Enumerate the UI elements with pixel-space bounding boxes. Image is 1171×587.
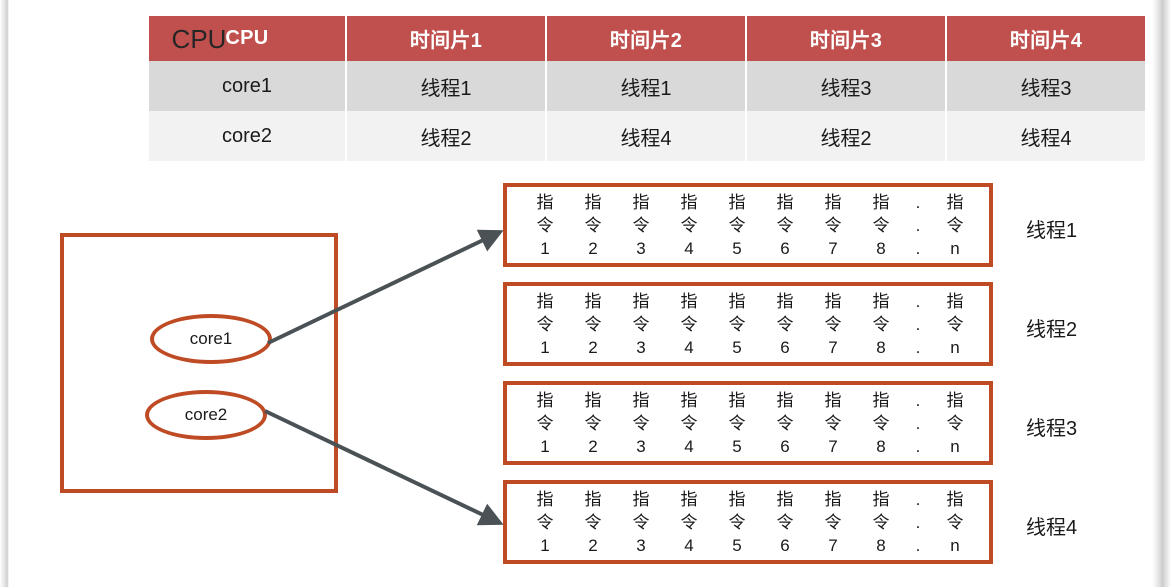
instr-char-bot: 4 [684, 435, 693, 458]
instr-char-top: . [916, 488, 921, 511]
instr-char-mid: 令 [633, 412, 650, 435]
instr-char-bot: 7 [828, 237, 837, 260]
instruction-cell: 指令1 [521, 389, 569, 458]
cell-core-name: core2 [149, 111, 345, 161]
instr-char-top: 指 [729, 290, 746, 313]
instr-char-mid: 令 [633, 511, 650, 534]
instr-char-mid: 令 [825, 511, 842, 534]
instr-char-bot: 4 [684, 237, 693, 260]
instr-char-bot: 5 [732, 435, 741, 458]
instr-char-mid: 令 [585, 313, 602, 336]
instruction-box-thread3: 指令1 指令2 指令3 指令4 指令5 指令6 指令7 指令8 ... 指令n [503, 381, 993, 465]
instr-char-bot: 7 [828, 534, 837, 557]
table-header-timeslot-1: 时间片1 [347, 16, 545, 61]
instr-char-mid: 令 [537, 214, 554, 237]
instruction-box-thread1: 指令1 指令2 指令3 指令4 指令5 指令6 指令7 指令8 ... 指令n [503, 183, 993, 267]
instr-char-bot: 8 [876, 435, 885, 458]
instruction-cell: 指令3 [617, 191, 665, 260]
instr-char-top: 指 [537, 488, 554, 511]
instr-char-bot: . [916, 237, 921, 260]
instr-char-bot: 2 [588, 435, 597, 458]
table-row-core2: core2 线程2 线程4 线程2 线程4 [149, 111, 1145, 161]
instr-char-mid: . [916, 511, 921, 534]
instruction-cell: 指令4 [665, 389, 713, 458]
table-row-core1: core1 线程1 线程1 线程3 线程3 [149, 61, 1145, 111]
instr-char-mid: 令 [537, 511, 554, 534]
instr-char-top: 指 [825, 389, 842, 412]
instr-char-mid: 令 [777, 511, 794, 534]
instr-char-top: 指 [947, 488, 964, 511]
instr-char-top: 指 [537, 191, 554, 214]
instruction-ellipsis: ... [905, 290, 931, 359]
instr-char-bot: n [950, 237, 959, 260]
instr-char-mid: 令 [585, 412, 602, 435]
instr-char-bot: n [950, 336, 959, 359]
instruction-ellipsis: ... [905, 488, 931, 557]
instr-char-mid: 令 [825, 412, 842, 435]
instr-char-bot: 1 [540, 336, 549, 359]
instr-char-top: 指 [825, 290, 842, 313]
instruction-cell: 指令7 [809, 389, 857, 458]
instruction-cell: 指令5 [713, 191, 761, 260]
cell-core2-slot1: 线程2 [347, 111, 545, 161]
instruction-box-thread2: 指令1 指令2 指令3 指令4 指令5 指令6 指令7 指令8 ... 指令n [503, 282, 993, 366]
thread-label-2: 线程2 [1026, 313, 1146, 342]
instr-char-bot: 2 [588, 534, 597, 557]
cell-core2-slot2: 线程4 [547, 111, 745, 161]
instruction-cell: 指令8 [857, 290, 905, 359]
instruction-cell: 指令3 [617, 389, 665, 458]
instruction-cell: 指令3 [617, 488, 665, 557]
instr-char-mid: 令 [825, 313, 842, 336]
instr-char-bot: 2 [588, 237, 597, 260]
instruction-cell: 指令n [931, 488, 979, 557]
cell-core1-slot3: 线程3 [747, 61, 945, 111]
core1-label: core1 [190, 329, 233, 349]
instr-char-mid: 令 [873, 412, 890, 435]
instruction-cell: 指令1 [521, 488, 569, 557]
instr-char-mid: 令 [681, 412, 698, 435]
instr-char-bot: 8 [876, 237, 885, 260]
cell-core2-slot4: 线程4 [947, 111, 1145, 161]
instruction-cell: 指令7 [809, 488, 857, 557]
cell-core1-slot4: 线程3 [947, 61, 1145, 111]
instr-char-bot: 5 [732, 237, 741, 260]
instruction-cell: 指令5 [713, 290, 761, 359]
instr-char-top: . [916, 290, 921, 313]
instr-char-mid: 令 [777, 412, 794, 435]
instr-char-mid: 令 [729, 511, 746, 534]
instr-char-bot: 6 [780, 534, 789, 557]
cell-core-name: core1 [149, 61, 345, 111]
instr-char-top: 指 [633, 389, 650, 412]
page-edge-right [1152, 0, 1171, 587]
instr-char-top: 指 [681, 389, 698, 412]
instr-char-bot: 8 [876, 534, 885, 557]
instr-char-mid: . [916, 313, 921, 336]
instr-char-mid: 令 [825, 214, 842, 237]
page-edge-left [0, 0, 9, 587]
instr-char-top: 指 [633, 191, 650, 214]
instr-char-top: 指 [537, 389, 554, 412]
instr-char-top: 指 [585, 488, 602, 511]
instruction-cell: 指令8 [857, 191, 905, 260]
instr-char-top: 指 [873, 290, 890, 313]
instr-char-bot: 8 [876, 336, 885, 359]
instr-char-mid: 令 [585, 214, 602, 237]
instr-char-mid: 令 [633, 313, 650, 336]
instr-char-mid: . [916, 412, 921, 435]
instruction-cell: 指令n [931, 389, 979, 458]
instr-char-mid: 令 [633, 214, 650, 237]
instr-char-bot: 2 [588, 336, 597, 359]
instr-char-bot: 3 [636, 237, 645, 260]
instr-char-top: 指 [681, 488, 698, 511]
instr-char-bot: . [916, 534, 921, 557]
instr-char-bot: 7 [828, 435, 837, 458]
instr-char-bot: n [950, 435, 959, 458]
instr-char-mid: 令 [777, 214, 794, 237]
instruction-cell: 指令6 [761, 488, 809, 557]
core2-ellipse: core2 [145, 390, 267, 440]
cell-core1-slot2: 线程1 [547, 61, 745, 111]
table-header-timeslot-3: 时间片3 [747, 16, 945, 61]
instruction-ellipsis: ... [905, 191, 931, 260]
instruction-cell: 指令2 [569, 290, 617, 359]
instr-char-mid: 令 [777, 313, 794, 336]
instr-char-top: 指 [947, 191, 964, 214]
instr-char-mid: 令 [729, 313, 746, 336]
instr-char-mid: 令 [947, 313, 964, 336]
instr-char-bot: 6 [780, 336, 789, 359]
instr-char-mid: 令 [537, 412, 554, 435]
instr-char-top: 指 [729, 191, 746, 214]
instr-char-mid: . [916, 214, 921, 237]
instruction-cell: 指令6 [761, 389, 809, 458]
instr-char-mid: 令 [873, 313, 890, 336]
instr-char-bot: 6 [780, 435, 789, 458]
instruction-cell: 指令1 [521, 290, 569, 359]
instr-char-top: 指 [633, 488, 650, 511]
instr-char-mid: 令 [681, 214, 698, 237]
thread-label-3: 线程3 [1026, 412, 1146, 441]
instr-char-bot: 7 [828, 336, 837, 359]
instr-char-mid: 令 [947, 214, 964, 237]
instruction-cell: 指令2 [569, 488, 617, 557]
instruction-cell: 指令n [931, 290, 979, 359]
instr-char-top: 指 [777, 389, 794, 412]
cell-core1-slot1: 线程1 [347, 61, 545, 111]
instr-char-mid: 令 [681, 511, 698, 534]
instr-char-bot: 4 [684, 534, 693, 557]
instr-char-mid: 令 [585, 511, 602, 534]
table-header-timeslot-2: 时间片2 [547, 16, 745, 61]
instr-char-top: 指 [633, 290, 650, 313]
instr-char-bot: . [916, 336, 921, 359]
instr-char-bot: 1 [540, 534, 549, 557]
instr-char-top: 指 [681, 191, 698, 214]
core1-ellipse: core1 [150, 314, 272, 364]
instr-char-bot: 1 [540, 435, 549, 458]
instruction-cell: 指令5 [713, 389, 761, 458]
instruction-cell: 指令6 [761, 290, 809, 359]
instr-char-mid: 令 [873, 214, 890, 237]
instruction-cell: 指令7 [809, 290, 857, 359]
instr-char-top: 指 [729, 488, 746, 511]
instr-char-bot: 3 [636, 435, 645, 458]
instr-char-top: 指 [777, 290, 794, 313]
instruction-cell: 指令4 [665, 191, 713, 260]
core2-label: core2 [185, 405, 228, 425]
instr-char-bot: 4 [684, 336, 693, 359]
instruction-cell: 指令6 [761, 191, 809, 260]
instr-char-top: 指 [681, 290, 698, 313]
instr-char-mid: 令 [947, 412, 964, 435]
instr-char-top: 指 [537, 290, 554, 313]
instr-char-top: 指 [585, 191, 602, 214]
instruction-box-thread4: 指令1 指令2 指令3 指令4 指令5 指令6 指令7 指令8 ... 指令n [503, 480, 993, 564]
instr-char-mid: 令 [947, 511, 964, 534]
instr-char-bot: . [916, 435, 921, 458]
instruction-ellipsis: ... [905, 389, 931, 458]
instr-char-mid: 令 [873, 511, 890, 534]
instr-char-top: 指 [947, 389, 964, 412]
instr-char-mid: 令 [729, 412, 746, 435]
instruction-cell: 指令4 [665, 488, 713, 557]
instr-char-bot: 6 [780, 237, 789, 260]
instr-char-top: 指 [825, 191, 842, 214]
instr-char-bot: 3 [636, 534, 645, 557]
instruction-cell: 指令8 [857, 488, 905, 557]
instr-char-top: 指 [825, 488, 842, 511]
instr-char-top: 指 [777, 191, 794, 214]
instruction-cell: 指令7 [809, 191, 857, 260]
instr-char-mid: 令 [729, 214, 746, 237]
instr-char-bot: 3 [636, 336, 645, 359]
instruction-cell: 指令2 [569, 389, 617, 458]
instruction-cell: 指令n [931, 191, 979, 260]
instruction-cell: 指令8 [857, 389, 905, 458]
cpu-title-label: CPU [60, 24, 338, 55]
instr-char-bot: 5 [732, 534, 741, 557]
instr-char-top: 指 [873, 488, 890, 511]
instruction-cell: 指令2 [569, 191, 617, 260]
instruction-cell: 指令4 [665, 290, 713, 359]
instr-char-top: . [916, 389, 921, 412]
instr-char-mid: 令 [681, 313, 698, 336]
instruction-cell: 指令5 [713, 488, 761, 557]
instr-char-bot: 1 [540, 237, 549, 260]
instr-char-top: 指 [585, 290, 602, 313]
instr-char-bot: 5 [732, 336, 741, 359]
instr-char-top: 指 [777, 488, 794, 511]
instr-char-bot: n [950, 534, 959, 557]
instr-char-top: 指 [729, 389, 746, 412]
instr-char-top: 指 [947, 290, 964, 313]
instr-char-top: . [916, 191, 921, 214]
cell-core2-slot3: 线程2 [747, 111, 945, 161]
table-header-timeslot-4: 时间片4 [947, 16, 1145, 61]
instr-char-mid: 令 [537, 313, 554, 336]
instruction-cell: 指令1 [521, 191, 569, 260]
instr-char-top: 指 [873, 389, 890, 412]
thread-label-1: 线程1 [1026, 214, 1146, 243]
instr-char-top: 指 [873, 191, 890, 214]
thread-label-4: 线程4 [1026, 511, 1146, 540]
instr-char-top: 指 [585, 389, 602, 412]
instruction-cell: 指令3 [617, 290, 665, 359]
